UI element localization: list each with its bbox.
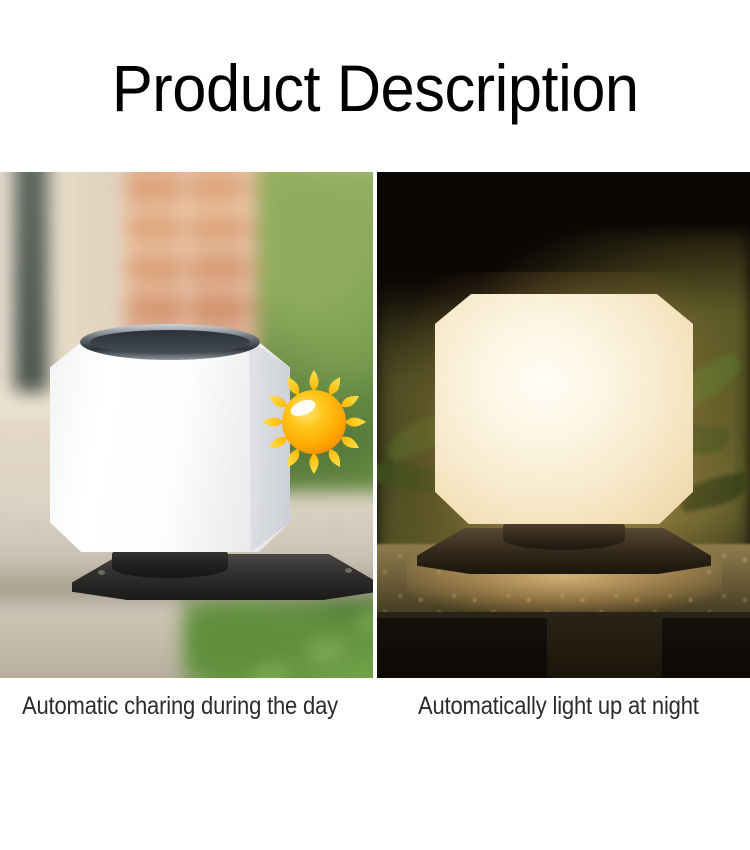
caption-day: Automatic charing during the day (22, 686, 338, 726)
photo-row (0, 172, 750, 678)
base-screw (98, 570, 105, 575)
night-pillar-shadow-right (662, 618, 750, 678)
title-bar: Product Description (0, 0, 750, 172)
lamp-night (435, 294, 693, 594)
caption-night: Automatically light up at night (418, 686, 699, 726)
product-description-page: Product Description (0, 0, 750, 750)
page-title: Product Description (112, 55, 639, 121)
panel-day (0, 172, 373, 678)
night-pillar-shadow-left (377, 618, 547, 678)
solar-panel (90, 330, 250, 354)
lamp-shade-night (435, 294, 693, 524)
sun-icon (258, 368, 370, 476)
caption-row: Automatic charing during the day Automat… (0, 678, 750, 750)
panel-divider (373, 344, 377, 850)
lamp-day (50, 322, 290, 572)
day-frame-glass (14, 172, 48, 392)
lamp-shade-day (50, 340, 290, 552)
base-screw (345, 568, 352, 573)
panel-night (377, 172, 750, 678)
